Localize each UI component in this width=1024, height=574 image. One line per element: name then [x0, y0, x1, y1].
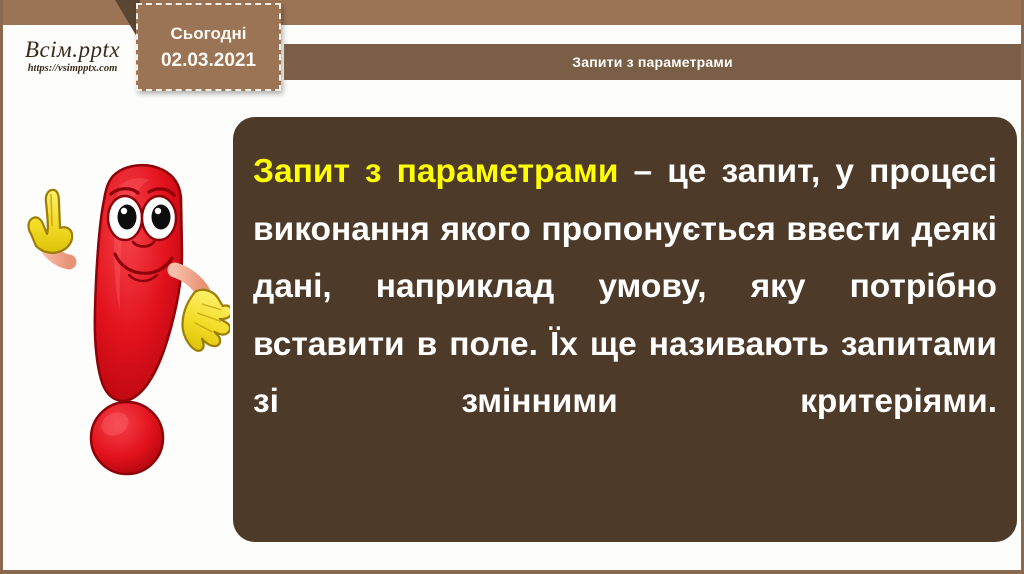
logo-title: Всім.pptx [25, 38, 120, 61]
slide-title-bar: Запити з параметрами [284, 44, 1021, 80]
page-title: Запити з параметрами [572, 54, 733, 70]
date-badge-value: 02.03.2021 [161, 51, 256, 70]
definition-body: – це запит, у процесі виконання якого пр… [253, 153, 997, 420]
date-badge-label: Сьогодні [171, 25, 247, 42]
logo-url: https://vsimpptx.com [28, 64, 118, 75]
exclamation-mark-icon [25, 142, 230, 482]
content-panel: Запит з параметрами – це запит, у процес… [233, 117, 1017, 542]
definition-paragraph: Запит з параметрами – це запит, у процес… [253, 143, 997, 431]
slide-canvas: Всім.pptx https://vsimpptx.com Сьогодні … [0, 0, 1024, 574]
date-badge: Сьогодні 02.03.2021 [136, 3, 281, 91]
date-ribbon: Сьогодні 02.03.2021 [115, 0, 285, 100]
highlighted-term: Запит з параметрами [253, 153, 618, 190]
